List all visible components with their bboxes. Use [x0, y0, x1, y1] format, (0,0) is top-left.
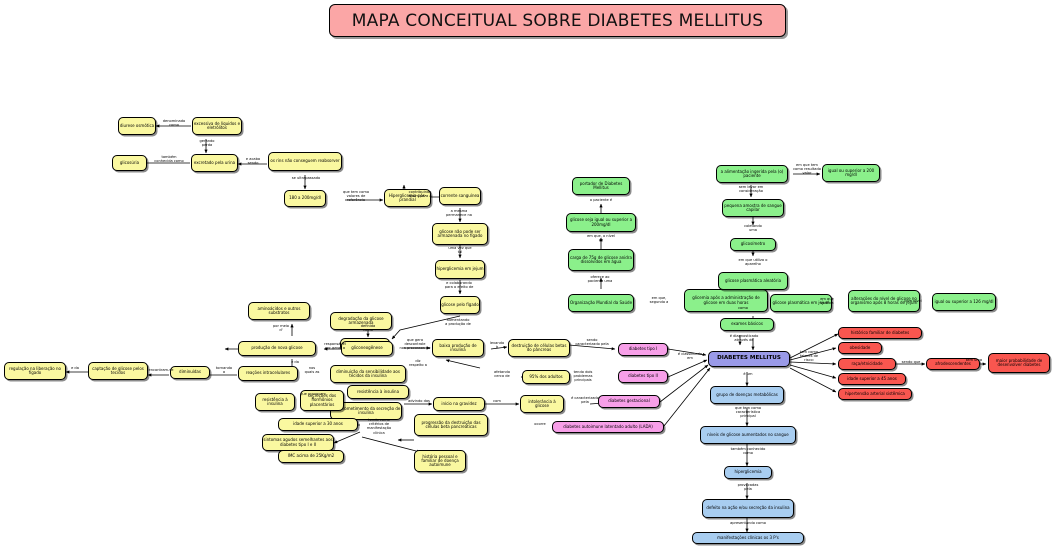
node-intolerancia-glicose[interactable]: intolerância à glicose — [520, 395, 564, 413]
node-diminuicao-sensibilidade[interactable]: diminuição da sensibilidade aos tecidos … — [330, 365, 406, 383]
link-label-gerando: gerando perda — [190, 139, 224, 147]
link-label-apresentando: apresentando como — [716, 521, 780, 525]
node-sintomas-agudos[interactable]: sintomas agudos semelhantes aos diabetes… — [262, 434, 334, 451]
link-label-valores-referencia: que tem como valores de referência — [330, 190, 382, 203]
link-label-tendo-problemas: tendo dois problemas principais — [566, 370, 600, 383]
node-oms[interactable]: Organização Mundial da Saúde — [568, 294, 634, 312]
node-glicose-aleatoria[interactable]: glicose plasmática aleatória — [718, 272, 788, 290]
link-label-sendo-caracterizado: sendo caracterizado pela — [570, 338, 614, 346]
node-diabetes-tipo-ii[interactable]: diabetes tipo II — [618, 370, 668, 383]
link-label-diagnosticado: é diagnosticado através de — [722, 334, 766, 342]
node-rins-nao-reabsorver[interactable]: os rins não conseguem reabsorver — [268, 152, 342, 171]
node-excessiva-liquidos[interactable]: excessiva de líquidos e eletrólitos — [192, 117, 242, 135]
link-label-por-meio: por meio d' — [266, 324, 296, 332]
link-label-oferece: oferece ao paciente uma — [576, 275, 624, 283]
link-label-acaba-sendo: e acaba sendo — [238, 157, 268, 165]
link-label-com: com — [486, 399, 508, 403]
node-glicose-pelo-figado[interactable]: glicose pelo fígado — [440, 296, 480, 314]
node-glicosuria[interactable]: glicosúria — [112, 155, 147, 171]
node-progressao-destruicao[interactable]: progressão da destruição das células bet… — [414, 414, 488, 436]
node-portador-dm[interactable]: portador de Diabetes Mellitus — [572, 177, 630, 195]
node-hiperglicemia-jejum[interactable]: hiperglicemia em jejum — [435, 260, 485, 279]
node-pequena-amostra[interactable]: pequena amostra de sangue capilar — [722, 199, 784, 217]
node-carga-75g[interactable]: carga de 75g de glicose anidra dissolvid… — [568, 249, 634, 271]
link-label-com-nivel: com nível — [896, 299, 930, 303]
link-label-paciente-e: o paciente é — [580, 198, 622, 202]
node-historico-familiar[interactable]: histórico familiar de diabetes — [838, 327, 922, 339]
node-grupo-doencas[interactable]: grupo de doenças metabólicas — [710, 386, 784, 404]
node-niveis-glicose[interactable]: níveis de glicose aumentados no sangue — [700, 426, 796, 444]
link-label-utiliza-aparelho: em que utiliza o aparelho — [728, 258, 778, 266]
node-destruicao-celulas-beta[interactable]: destruição de células betas do pâncreas — [508, 339, 570, 357]
link-label-tem-uma: têm uma — [960, 358, 988, 362]
link-label-responsavel: responsável por gerar a — [316, 342, 354, 350]
node-idade-superior-45[interactable]: idade superior a 45 anos — [838, 373, 906, 385]
node-defeito-acao[interactable]: defeito na ação e/ou secreção da insulin… — [702, 499, 794, 518]
node-excretado-urina[interactable]: excretado pela urina — [191, 154, 238, 172]
link-label-classificado: é classificado em — [672, 352, 708, 360]
node-igual-superior-126[interactable]: igual ou superior a 126 mg/dl — [932, 293, 996, 311]
node-regulacao-figado[interactable]: regulação na liberação no fígado — [4, 362, 66, 380]
node-imc-25[interactable]: IMC acima de 25Kg/m2 — [278, 450, 344, 463]
link-label-definida-como: definida como — [352, 324, 384, 332]
link-label-fatores-risco: tem como fatores de risco: — [790, 350, 828, 363]
node-hipertensao[interactable]: hipertensão arterial sistêmica — [838, 388, 912, 400]
node-manifestacoes-3ps[interactable]: manifestações clínicas os 3 P's — [692, 532, 804, 544]
node-producao-nova-glicose[interactable]: produção de nova glicose — [238, 341, 316, 356]
link-label-tornando: tornando a — [208, 366, 240, 374]
link-label-e-da: e da — [284, 360, 306, 364]
link-label-uma-vez: uma vez que tal — [438, 246, 482, 254]
link-label-em-que-verifica: em que verifica — [812, 297, 842, 305]
node-captacao-glicose[interactable]: captação de glicose pelos tecidos — [88, 362, 148, 380]
link-label-sem-levar: sem levar em consideração — [728, 185, 774, 193]
node-alimentacao-ingerida[interactable]: a alimentação ingerida pela (o) paciente — [716, 165, 788, 183]
node-180-200[interactable]: 180 a 200mg/dl — [284, 190, 326, 207]
node-hiperglicemia[interactable]: hiperglicemia — [724, 466, 772, 479]
link-label-provocadas: provocadas pela — [728, 483, 768, 491]
link-label-tambem-conhecida: também conhecida como — [146, 155, 192, 163]
node-glicose-nao-armazenada[interactable]: glicose não pode ser armazenada no fígad… — [432, 223, 488, 245]
link-label-encontram: encontram-se — [144, 368, 178, 372]
link-label-contribuindo: contribuindo assim para a — [400, 190, 440, 198]
node-historia-pessoal[interactable]: história pessoal e familiar de doença au… — [414, 450, 466, 472]
link-label-coletando: coletando uma — [734, 224, 772, 232]
link-label-se-ultrapassado: se ultrapassado — [278, 176, 334, 180]
link-label-mesma-permanece: a mesma permanece na — [436, 209, 482, 217]
node-glicemia-apos-2h[interactable]: glicemia após a administração de glicose… — [684, 289, 768, 312]
link-label-em-que-nivel: em que, o nível de — [578, 234, 624, 242]
page-title: MAPA CONCEITUAL SOBRE DIABETES MELLITUS — [329, 4, 786, 37]
node-resistencia-insulina-2[interactable]: resistência à insulina — [347, 385, 409, 399]
link-label-aumentando: aumentando a produção de — [434, 318, 482, 326]
node-raca-etnicidade[interactable]: raça/etnicidade — [838, 358, 896, 370]
link-label-caracteristica: que tem como característica principal — [722, 406, 774, 419]
link-label-levando: levando à — [486, 341, 508, 349]
node-exames-basicos[interactable]: exames básicos — [720, 318, 774, 331]
node-95-adultos[interactable]: 95% dos adultos — [522, 370, 570, 384]
link-label-sendo-que: sendo que — [894, 360, 928, 364]
link-label-como: como — [732, 306, 754, 310]
node-diabetes-mellitus[interactable]: DIABETES MELLITUS — [708, 351, 790, 367]
node-lada[interactable]: diabetes autoimune latentado adulto (LAD… — [552, 421, 664, 433]
link-label-ocorre: ocorre — [528, 422, 552, 426]
link-label-resultado-valor: em que tem como resultado valor — [786, 163, 828, 176]
node-aminoacidos[interactable]: aminoácidos e outros substratos — [248, 302, 310, 320]
node-obesidade[interactable]: obesidade — [838, 342, 882, 354]
link-label-e-um: é um — [736, 372, 760, 376]
link-label-segundo: em que, segundo a — [638, 296, 680, 304]
node-inicio-gravidez[interactable]: início na gravidez — [433, 397, 485, 411]
link-label-afetando-cerca: afetando cerca de — [484, 370, 520, 378]
node-baixa-producao-insulina[interactable]: baixa produção de insulina — [432, 339, 484, 357]
link-label-diz-respeito: diz respeito a — [406, 359, 430, 367]
node-igual-superior-200[interactable]: igual ou superior a 200 mg/dl — [822, 164, 880, 182]
node-reacoes-intracelulares[interactable]: reações intracelulares — [238, 366, 298, 381]
concept-map-canvas: MAPA CONCEITUAL SOBRE DIABETES MELLITUS — [0, 0, 1053, 546]
node-resistencia-insulina-1[interactable]: resistência à insulina — [255, 393, 295, 411]
link-label-advindo: advindo das — [404, 399, 434, 403]
link-label-denominado: denominado como — [155, 119, 193, 127]
node-diabetes-tipo-i[interactable]: diabetes tipo I — [618, 343, 668, 356]
link-label-que-provocam: que provocam a — [296, 392, 330, 400]
node-diurese-osmotica[interactable]: diurese osmótica — [118, 117, 156, 135]
link-label-colaborando: e colaborando para o efeito de — [430, 281, 488, 289]
link-label-criterios: tendo como critérios de manifestação clí… — [358, 418, 400, 435]
node-corrente-sanguinea[interactable]: corrente sanguínea — [439, 187, 481, 205]
link-label-e-da-2: e da — [62, 366, 88, 370]
connector-layer — [0, 0, 1053, 546]
node-idade-superior-30[interactable]: idade superior a 30 anos — [278, 418, 358, 431]
link-label-que-gera: que gera descontrole nos processos de — [396, 338, 434, 351]
node-diabetes-gestacional[interactable]: diabetes gestacional — [598, 395, 660, 408]
link-label-caracterizado-pela: é caracterizado pela — [568, 396, 602, 404]
node-maior-probabilidade[interactable]: maior probabilidade de desenvolver diabe… — [988, 353, 1050, 373]
node-glicose-igual-200[interactable]: glicose seja igual ou superior a 200mg/d… — [566, 213, 636, 232]
node-glicosimetro[interactable]: glicosímetro — [730, 238, 776, 251]
link-label-nos-quais: nos quais as — [298, 366, 326, 374]
link-label-tambem-conhecido: também conhecido como — [718, 447, 778, 455]
